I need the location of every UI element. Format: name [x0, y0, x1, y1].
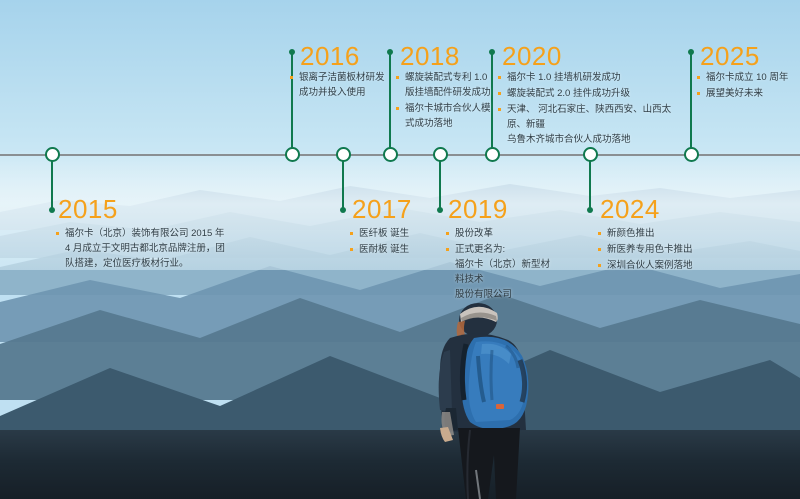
- milestone-stem-dot-2019: [437, 207, 443, 213]
- milestone-stem-2018: [389, 52, 391, 154]
- milestone-stem-2015: [51, 154, 53, 210]
- list-item: 银离子洁菌板材研发 成功并投入使用: [290, 70, 385, 100]
- milestone-node-2015[interactable]: [45, 147, 60, 162]
- milestone-stem-2017: [342, 154, 344, 210]
- list-item: 福尔卡城市合伙人模 式成功落地: [396, 101, 496, 131]
- milestone-stem-dot-2018: [387, 49, 393, 55]
- milestone-node-2025[interactable]: [684, 147, 699, 162]
- list-item: 深圳合伙人案例落地: [598, 258, 748, 273]
- list-item: 福尔卡 1.0 挂墙机研发成功: [498, 70, 688, 85]
- milestone-year-2016: 2016: [300, 43, 360, 69]
- milestone-stem-dot-2016: [289, 49, 295, 55]
- milestone-item-list-2020: 福尔卡 1.0 挂墙机研发成功螺旋装配式 2.0 挂件成功升级天津、 河北石家庄…: [498, 70, 688, 147]
- milestone-block-2016: 银离子洁菌板材研发 成功并投入使用: [290, 70, 385, 101]
- list-item: 新颜色推出: [598, 226, 748, 241]
- milestone-node-2018[interactable]: [383, 147, 398, 162]
- milestone-node-2017[interactable]: [336, 147, 351, 162]
- milestone-item-list-2015: 福尔卡（北京）装饰有限公司 2015 年 4 月成立于文明古都北京品牌注册，团 …: [56, 226, 236, 271]
- milestone-item-list-2019: 股份改革正式更名为: 福尔卡（北京）新型材料技术 股份有限公司: [446, 226, 556, 302]
- list-item: 螺旋装配式 2.0 挂件成功升级: [498, 86, 688, 101]
- milestone-node-2024[interactable]: [583, 147, 598, 162]
- milestone-year-2018: 2018: [400, 43, 460, 69]
- list-item: 医纤板 诞生: [350, 226, 450, 241]
- list-item: 股份改革: [446, 226, 556, 241]
- ground-texture: [0, 425, 800, 499]
- milestone-item-list-2017: 医纤板 诞生医耐板 诞生: [350, 226, 450, 257]
- milestone-node-2019[interactable]: [433, 147, 448, 162]
- milestone-block-2018: 螺旋装配式专利 1.0 版挂墙配件研发成功福尔卡城市合伙人模 式成功落地: [396, 70, 496, 132]
- milestone-year-2024: 2024: [600, 196, 660, 222]
- milestone-year-2020: 2020: [502, 43, 562, 69]
- milestone-stem-2016: [291, 52, 293, 154]
- milestone-year-2015: 2015: [58, 196, 118, 222]
- list-item: 福尔卡成立 10 周年: [697, 70, 797, 85]
- timeline-infographic: 2015福尔卡（北京）装饰有限公司 2015 年 4 月成立于文明古都北京品牌注…: [0, 0, 800, 499]
- list-item: 福尔卡（北京）装饰有限公司 2015 年 4 月成立于文明古都北京品牌注册，团 …: [56, 226, 236, 271]
- milestone-stem-dot-2025: [688, 49, 694, 55]
- milestone-item-list-2025: 福尔卡成立 10 周年展望美好未来: [697, 70, 797, 101]
- milestone-stem-2019: [439, 154, 441, 210]
- hiker-figure: [420, 300, 570, 499]
- milestone-block-2025: 福尔卡成立 10 周年展望美好未来: [697, 70, 797, 102]
- list-item: 正式更名为: 福尔卡（北京）新型材料技术 股份有限公司: [446, 242, 556, 302]
- milestone-block-2020: 福尔卡 1.0 挂墙机研发成功螺旋装配式 2.0 挂件成功升级天津、 河北石家庄…: [498, 70, 688, 148]
- milestone-node-2020[interactable]: [485, 147, 500, 162]
- milestone-block-2017: 医纤板 诞生医耐板 诞生: [350, 226, 450, 258]
- milestone-stem-dot-2020: [489, 49, 495, 55]
- milestone-block-2024: 新颜色推出新医养专用色卡推出深圳合伙人案例落地: [598, 226, 748, 274]
- milestone-item-list-2018: 螺旋装配式专利 1.0 版挂墙配件研发成功福尔卡城市合伙人模 式成功落地: [396, 70, 496, 131]
- milestone-stem-2024: [589, 154, 591, 210]
- timeline-axis: [0, 154, 800, 156]
- milestone-item-list-2024: 新颜色推出新医养专用色卡推出深圳合伙人案例落地: [598, 226, 748, 273]
- milestone-year-2017: 2017: [352, 196, 412, 222]
- list-item: 新医养专用色卡推出: [598, 242, 748, 257]
- list-item: 展望美好未来: [697, 86, 797, 101]
- milestone-stem-dot-2024: [587, 207, 593, 213]
- milestone-block-2015: 福尔卡（北京）装饰有限公司 2015 年 4 月成立于文明古都北京品牌注册，团 …: [56, 226, 236, 272]
- milestone-block-2019: 股份改革正式更名为: 福尔卡（北京）新型材料技术 股份有限公司: [446, 226, 556, 303]
- milestone-year-2025: 2025: [700, 43, 760, 69]
- list-item: 医耐板 诞生: [350, 242, 450, 257]
- list-item: 天津、 河北石家庄、陕西西安、山西太原、新疆 乌鲁木齐城市合伙人成功落地: [498, 102, 688, 147]
- milestone-stem-dot-2015: [49, 207, 55, 213]
- milestone-year-2019: 2019: [448, 196, 508, 222]
- milestone-item-list-2016: 银离子洁菌板材研发 成功并投入使用: [290, 70, 385, 100]
- milestone-stem-2025: [690, 52, 692, 154]
- milestone-stem-dot-2017: [340, 207, 346, 213]
- milestone-node-2016[interactable]: [285, 147, 300, 162]
- list-item: 螺旋装配式专利 1.0 版挂墙配件研发成功: [396, 70, 496, 100]
